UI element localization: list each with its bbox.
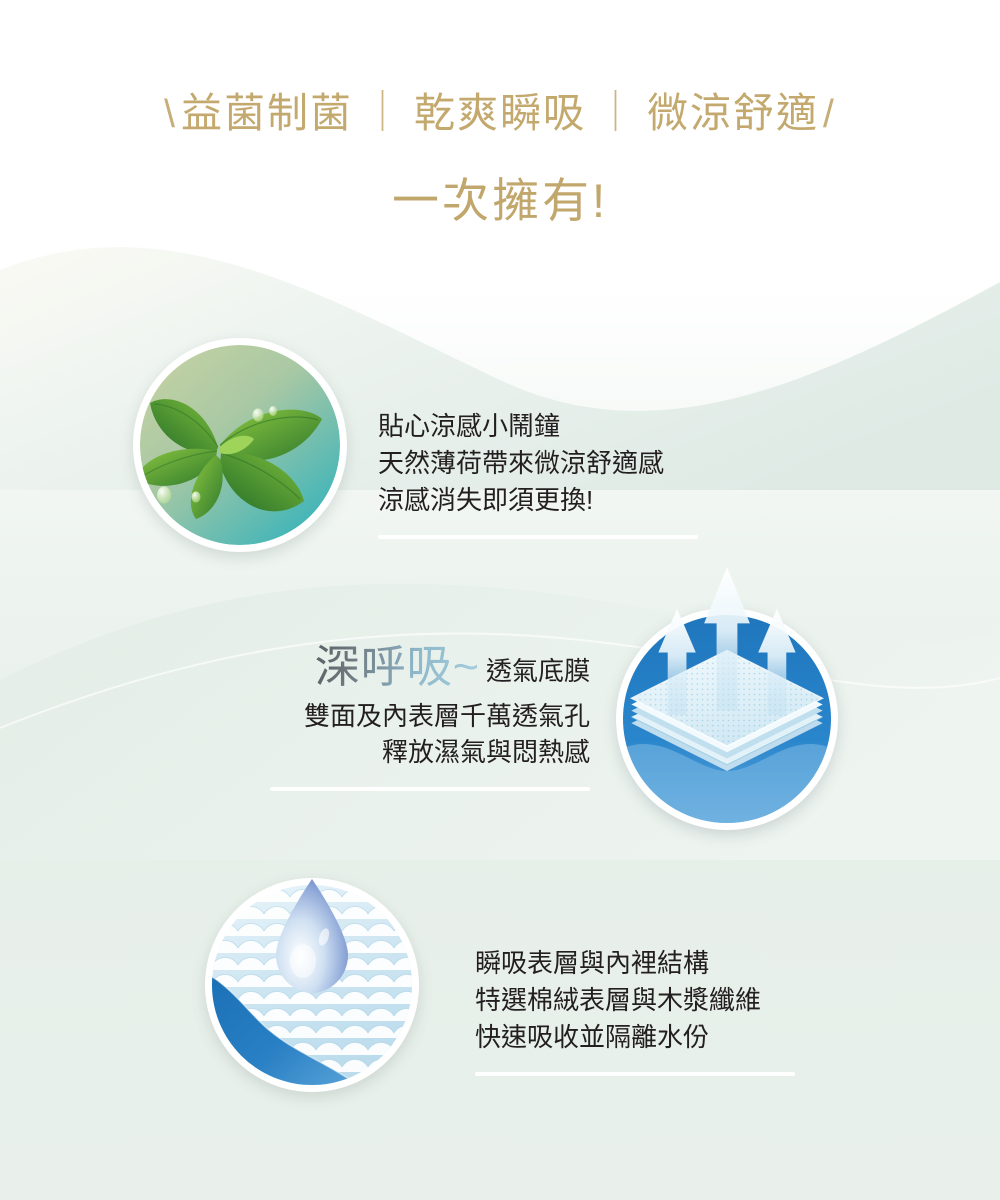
breathable-text-group: 深呼吸~透氣底膜 雙面及內表層千萬透氣孔 釋放濕氣與悶熱感 (255, 642, 590, 791)
headline-line-1: \益菌制菌｜乾爽瞬吸｜微涼舒適/ (0, 88, 1000, 140)
infographic-page: \益菌制菌｜乾爽瞬吸｜微涼舒適/ 一次擁有! (0, 0, 1000, 1200)
headline-segment-2: 乾爽瞬吸 (414, 90, 586, 136)
absorbent-line-1: 瞬吸表層與內裡結構 (475, 945, 805, 982)
headline-separator-2: ｜ (586, 87, 647, 138)
headline-slash-left: \ (160, 91, 181, 140)
breathable-divider (270, 787, 590, 791)
headline: \益菌制菌｜乾爽瞬吸｜微涼舒適/ 一次擁有! (0, 88, 1000, 231)
absorbent-divider (475, 1072, 795, 1076)
cooling-line-2: 天然薄荷帶來微涼舒適感 (378, 445, 708, 482)
absorbent-text-group: 瞬吸表層與內裡結構 特選棉絨表層與木漿纖維 快速吸收並隔離水份 (475, 945, 805, 1076)
breathable-heading-sub: 透氣底膜 (486, 656, 590, 686)
breathable-heading: 深呼吸~透氣底膜 (255, 642, 590, 692)
headline-separator-1: ｜ (353, 87, 414, 138)
cooling-line-1: 貼心涼感小鬧鐘 (378, 408, 708, 445)
absorbent-line-3: 快速吸收並隔離水份 (475, 1019, 805, 1056)
breathable-line-2: 釋放濕氣與悶熱感 (255, 734, 590, 771)
headline-segment-1: 益菌制菌 (181, 90, 353, 136)
mint-leaves-illustration (133, 338, 347, 552)
cooling-text-group: 貼心涼感小鬧鐘 天然薄荷帶來微涼舒適感 涼感消失即須更換! (378, 408, 708, 539)
headline-line-2: 一次擁有! (0, 162, 1000, 231)
breathable-membrane-illustration (616, 608, 838, 830)
cooling-divider (378, 535, 698, 539)
absorbent-line-2: 特選棉絨表層與木漿纖維 (475, 982, 805, 1019)
water-drop-absorption-illustration (205, 878, 419, 1092)
headline-segment-3: 微涼舒適 (647, 90, 819, 136)
breathable-heading-main: 深呼吸~ (315, 641, 480, 692)
breathable-line-1: 雙面及內表層千萬透氣孔 (255, 698, 590, 735)
headline-slash-right: / (819, 91, 840, 140)
cooling-line-3: 涼感消失即須更換! (378, 482, 708, 519)
